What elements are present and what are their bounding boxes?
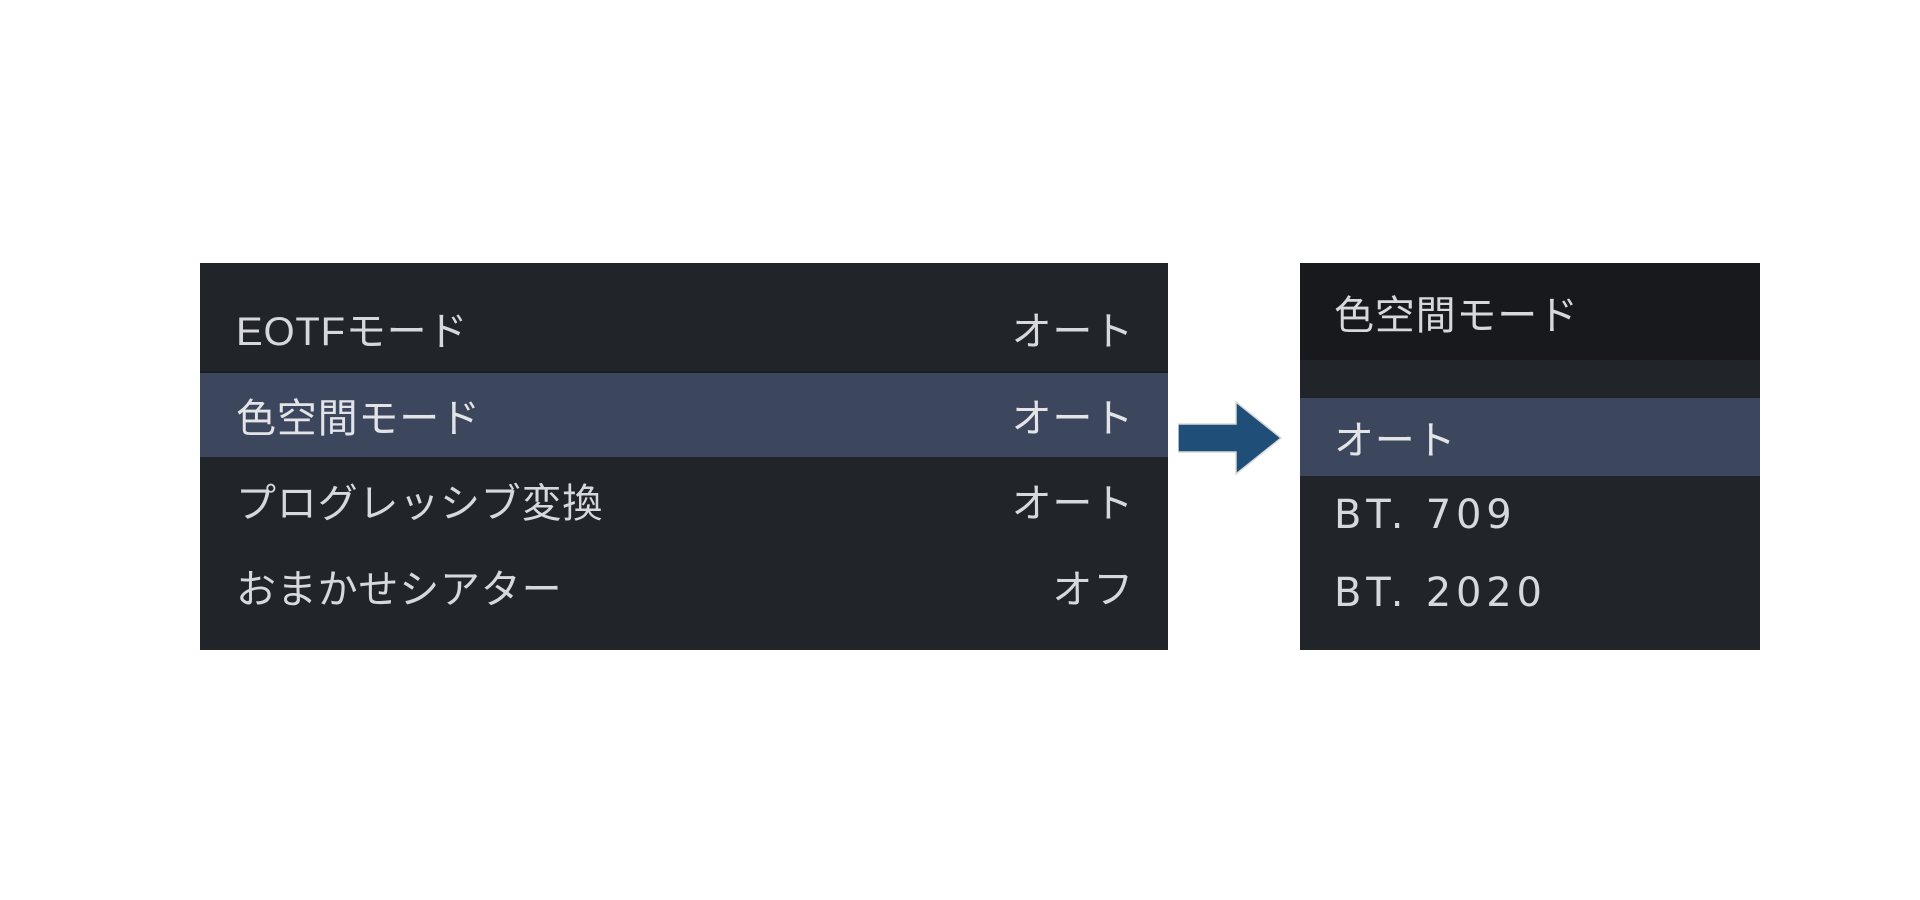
settings-row-value: オート xyxy=(1012,471,1134,529)
options-panel-title: 色空間モード xyxy=(1334,283,1579,341)
settings-row-partial[interactable]: のこり時間 xyxy=(200,629,1168,650)
options-panel-header: 色空間モード xyxy=(1300,263,1760,360)
settings-row-value: オート xyxy=(1012,386,1134,444)
settings-row-label: のこり時間 xyxy=(236,643,440,650)
option-item-label: オート xyxy=(1334,408,1456,466)
settings-row-label: EOTFモード xyxy=(236,299,468,357)
settings-row-value: オフ xyxy=(1052,557,1134,615)
options-panel: 色空間モード オート BT. 709 BT. 2020 xyxy=(1300,263,1760,650)
settings-row-value: オート xyxy=(1012,299,1134,357)
settings-row-omakase-theater[interactable]: おまかせシアター オフ xyxy=(200,543,1168,629)
options-panel-spacer xyxy=(1300,360,1760,398)
option-item-label: BT. 2020 xyxy=(1334,570,1547,616)
right-arrow-icon xyxy=(1178,398,1282,478)
settings-row-label: 色空間モード xyxy=(236,386,481,444)
settings-row-color-space-mode[interactable]: 色空間モード オート xyxy=(200,371,1168,457)
settings-row-eotf-mode[interactable]: EOTFモード オート xyxy=(200,285,1168,371)
settings-row-label: プログレッシブ変換 xyxy=(236,471,603,529)
settings-row-label: おまかせシアター xyxy=(236,557,562,615)
settings-panel: EOTFモード オート 色空間モード オート プログレッシブ変換 オート おまか… xyxy=(200,263,1168,650)
option-item-auto[interactable]: オート xyxy=(1300,398,1760,476)
settings-row-list: EOTFモード オート 色空間モード オート プログレッシブ変換 オート おまか… xyxy=(200,285,1168,650)
option-item-bt709[interactable]: BT. 709 xyxy=(1300,476,1760,554)
option-item-bt2020[interactable]: BT. 2020 xyxy=(1300,554,1760,632)
option-item-label: BT. 709 xyxy=(1334,492,1517,538)
settings-row-progressive-conversion[interactable]: プログレッシブ変換 オート xyxy=(200,457,1168,543)
